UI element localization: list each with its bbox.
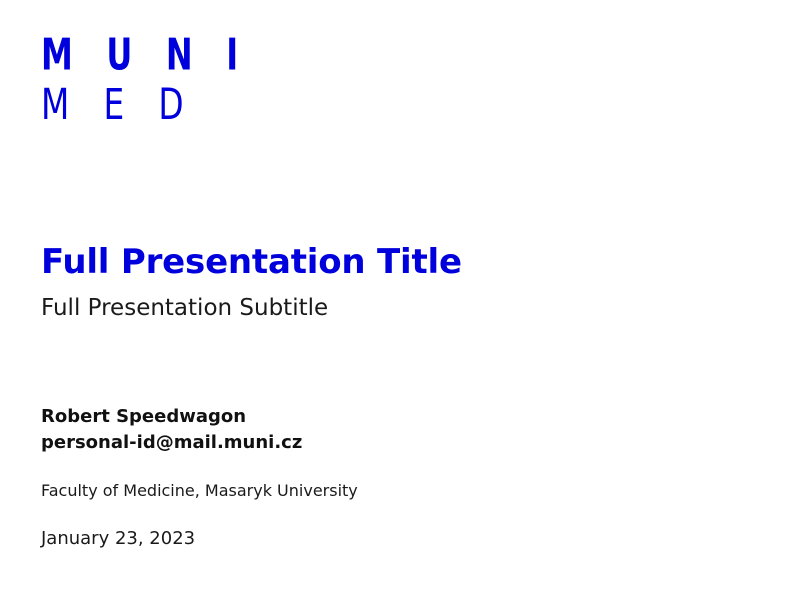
title-slide: M U N I M E D Full Presentation Title Fu… xyxy=(0,0,794,596)
page-subtitle: Full Presentation Subtitle xyxy=(41,295,741,323)
presentation-date: January 23, 2023 xyxy=(41,527,741,550)
title-block: Full Presentation Title Full Presentatio… xyxy=(41,243,741,323)
author-name: Robert Speedwagon xyxy=(41,404,741,430)
author-email: personal-id@mail.muni.cz xyxy=(41,430,741,456)
presenter-meta-block: Robert Speedwagon personal-id@mail.muni.… xyxy=(41,404,741,550)
muni-med-logo: M U N I M E D xyxy=(41,34,301,124)
affiliation: Faculty of Medicine, Masaryk University xyxy=(41,481,741,502)
logo-wordmark-muni: M U N I xyxy=(41,34,249,77)
logo-wordmark-med: M E D xyxy=(41,84,255,126)
author-group: Robert Speedwagon personal-id@mail.muni.… xyxy=(41,404,741,456)
page-title: Full Presentation Title xyxy=(41,243,741,281)
